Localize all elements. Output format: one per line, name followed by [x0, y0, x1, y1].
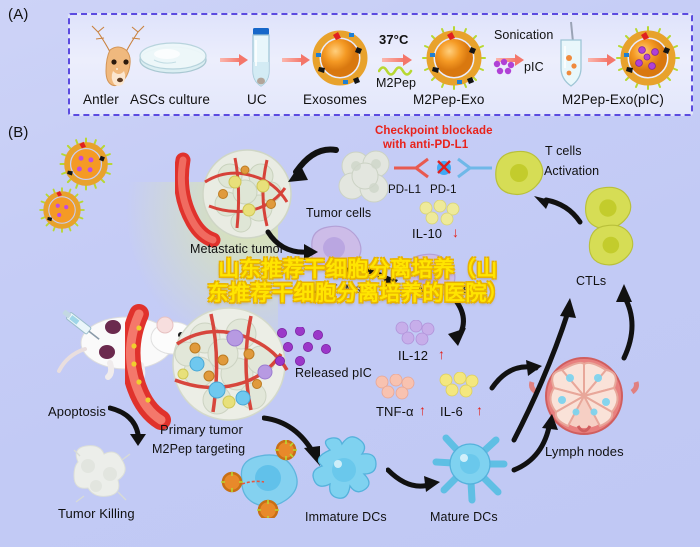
tumor-cells-label: Tumor cells — [306, 206, 371, 220]
il12-dots-icon — [394, 320, 438, 346]
panel-a-step-label-m2pep-exo-pic: M2Pep-Exo(pIC) — [562, 92, 664, 107]
arrow-maturedc-to-lymph — [510, 414, 566, 474]
sonication-annotation: Sonication — [494, 28, 553, 42]
panel-a-step-label-asc: ASCs culture — [130, 92, 210, 107]
tnfa-arrow: ↑ — [419, 402, 426, 418]
immature-dc-icon — [306, 434, 386, 506]
temperature-annotation: 37°C — [379, 32, 408, 47]
il6-arrow: ↑ — [476, 402, 483, 418]
pd-receptor-icon — [392, 154, 496, 186]
m2pep-annotation: M2Pep — [376, 76, 416, 90]
panel-a-step-label-m2pep-exo: M2Pep-Exo — [413, 92, 484, 107]
mature-dc-icon — [428, 430, 512, 506]
arrow-tam-down — [444, 290, 508, 350]
immature-dcs-label: Immature DCs — [305, 510, 387, 524]
m2pep-exosome-icon — [420, 24, 488, 92]
pic-dots-icon — [492, 58, 520, 76]
released-pic-label: Released pIC — [295, 366, 372, 380]
nanoparticle-icon-1 — [58, 136, 114, 192]
arrow-lymph-to-ctl — [602, 282, 648, 362]
process-arrow-6 — [588, 55, 616, 64]
pd-1-label: PD-1 — [430, 184, 457, 196]
exosome-icon — [309, 27, 371, 89]
dying-tumor-cell-icon — [60, 440, 140, 506]
nanoparticle-icon-2 — [38, 186, 86, 234]
t-cell-icon-3 — [582, 222, 636, 270]
tnfa-dots-icon — [374, 374, 418, 400]
apoptosis-label: Apoptosis — [48, 404, 106, 419]
arrow-tam-left — [264, 226, 320, 268]
arrow-tam-right — [330, 264, 402, 308]
process-arrow-2 — [220, 55, 248, 64]
il6-label: IL-6 — [440, 404, 463, 419]
process-arrow-4 — [382, 55, 412, 64]
checkpoint-blockade-label: Checkpoint blockade — [375, 125, 493, 137]
t-cells-label: T cells — [545, 144, 582, 158]
il12-label: IL-12 — [398, 348, 428, 363]
released-pic-icon — [272, 327, 342, 369]
activation-arrow — [530, 180, 590, 226]
panel-a-tag: (A) — [8, 6, 29, 23]
panel-b: (B) — [0, 122, 700, 547]
pd-l1-label: PD-L1 — [388, 184, 421, 196]
primary-tumor-label: Primary tumor — [160, 422, 243, 437]
m2pep-peptide-icon — [378, 64, 416, 76]
activation-label: Activation — [544, 164, 599, 178]
tnfa-label: TNF-α — [376, 404, 414, 419]
il12-arrow: ↑ — [438, 346, 445, 362]
tumor-killing-label: Tumor Killing — [58, 506, 135, 521]
pic-annotation: pIC — [524, 60, 544, 74]
anti-pdl1-label: with anti-PD-L1 — [383, 139, 468, 151]
petri-dish-icon — [134, 38, 212, 78]
panel-a: (A) Antler ASCs culture — [0, 0, 700, 122]
il10-arrow: ↓ — [452, 224, 459, 240]
il10-label: IL-10 — [412, 226, 442, 241]
panel-b-tag: (B) — [8, 124, 29, 141]
il10-dots-icon — [418, 200, 462, 226]
panel-a-step-label-antler: Antler — [83, 92, 119, 107]
panel-a-step-label-uc: UC — [247, 92, 267, 107]
sonication-tube-icon — [556, 20, 586, 88]
figure-canvas: (A) Antler ASCs culture — [0, 0, 700, 547]
mature-dcs-label: Mature DCs — [430, 510, 498, 524]
process-arrow-3 — [282, 55, 310, 64]
m2pep-exosome-pic-icon — [614, 24, 682, 92]
il6-dots-icon — [438, 372, 482, 398]
panel-a-step-label-exosomes: Exosomes — [303, 92, 367, 107]
centrifuge-tube-icon — [248, 26, 274, 88]
